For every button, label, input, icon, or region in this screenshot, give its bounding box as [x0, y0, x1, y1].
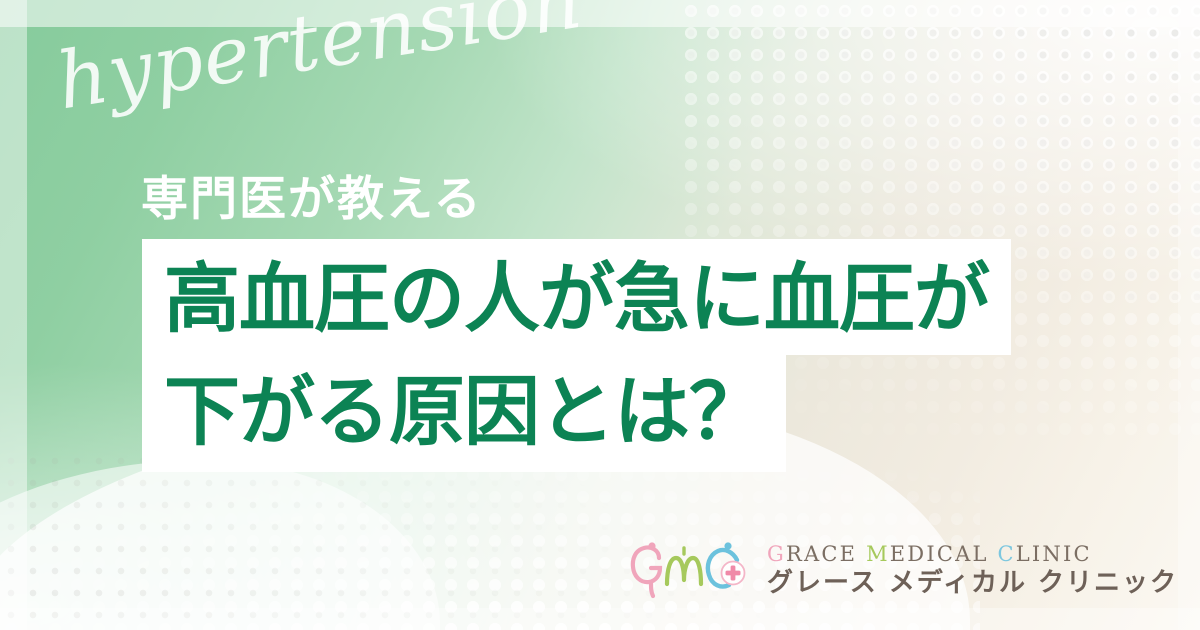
eyecatch-banner: hypertension 専門医が教える 高血圧の人が急に血圧が 下がる原因とは… [0, 0, 1200, 630]
kicker-text: 専門医が教える [141, 176, 483, 223]
logo-en-edical: EDICAL [890, 542, 998, 566]
logo-name-english: GRACE MEDICAL CLINIC [767, 544, 1178, 565]
gmc-logo-mark-icon [629, 540, 749, 602]
headline-line-1: 高血圧の人が急に血圧が [142, 239, 1011, 355]
logo-en-c: C [997, 542, 1015, 566]
headline-line-2: 下がる原因とは？ [142, 354, 786, 472]
logo-en-linic: LINIC [1016, 542, 1092, 566]
clinic-logo[interactable]: GRACE MEDICAL CLINIC グレース メディカル クリニック [629, 540, 1178, 602]
logo-name-japanese: グレース メディカル クリニック [767, 569, 1178, 598]
logo-text-block: GRACE MEDICAL CLINIC グレース メディカル クリニック [767, 544, 1178, 598]
logo-en-m: M [866, 542, 890, 566]
logo-en-g: G [767, 542, 786, 566]
logo-en-race: RACE [786, 542, 866, 566]
